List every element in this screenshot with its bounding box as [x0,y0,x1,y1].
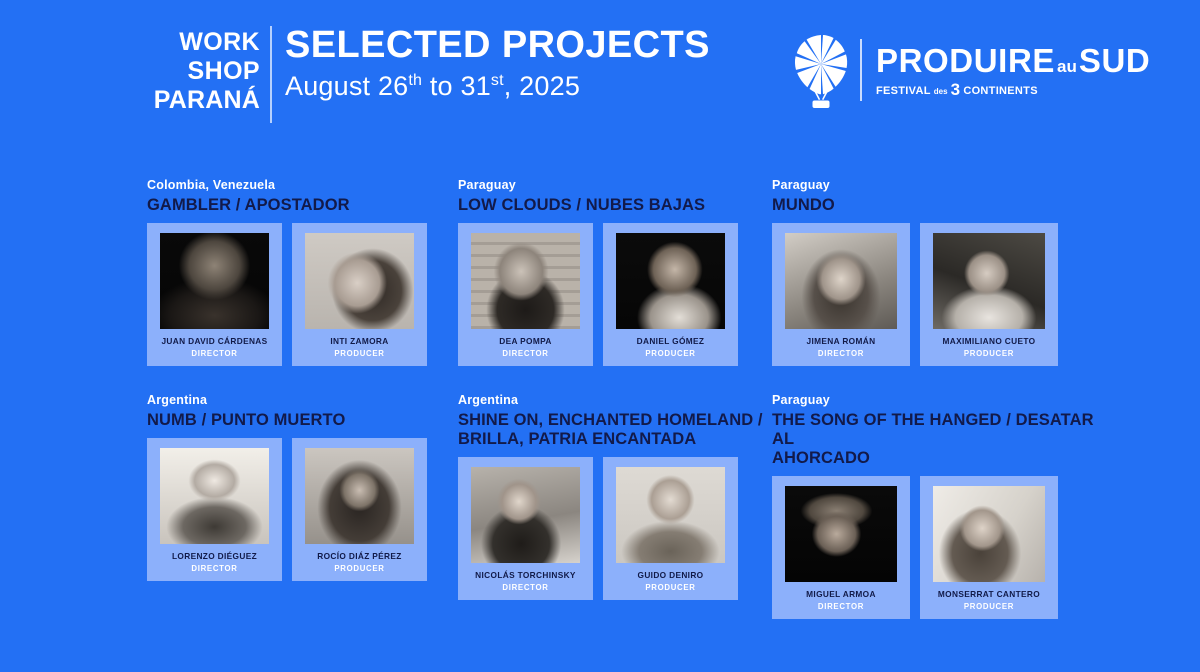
date-middle: to 31 [422,71,491,101]
logo-continents: CONTINENTS [963,85,1038,97]
person-role: DIRECTOR [502,349,548,358]
event-dates: August 26th to 31st, 2025 [285,70,710,102]
person-role: PRODUCER [334,349,384,358]
hot-air-balloon-icon [790,30,852,110]
person-name: GUIDO DENIRO [638,571,704,581]
header-title-group: SELECTED PROJECTS August 26th to 31st, 2… [285,24,710,102]
person-role: DIRECTOR [191,349,237,358]
person-photo [305,448,414,544]
project-title: LOW CLOUDS / NUBES BAJAS [458,196,788,215]
person-photo [933,486,1045,582]
person-role: DIRECTOR [818,349,864,358]
project-country: Paraguay [772,178,1102,194]
person-card-producer[interactable]: GUIDO DENIRO PRODUCER [603,457,738,600]
person-role: DIRECTOR [191,564,237,573]
logo-au: au [1055,57,1079,76]
project-title: GAMBLER / APOSTADOR [147,196,477,215]
project-people: LORENZO DIÉGUEZ DIRECTOR ROCÍO DIÁZ PÉRE… [147,438,477,581]
selected-projects-grid: Colombia, Venezuela GAMBLER / APOSTADOR … [0,178,1200,608]
project-people: MIGUEL ARMOA DIRECTOR MONSERRAT CANTERO … [772,476,1102,619]
date-prefix: August 26 [285,71,408,101]
logo-des: des [934,87,948,96]
person-name: DANIEL GÓMEZ [637,337,705,347]
person-card-producer[interactable]: ROCÍO DIÁZ PÉREZ PRODUCER [292,438,427,581]
project-card-low-clouds-nubes-bajas: Paraguay LOW CLOUDS / NUBES BAJAS DEA PO… [458,178,788,366]
logo-sud: SUD [1079,42,1150,79]
logo-tagline: FESTIVAL des 3 CONTINENTS [876,83,1150,97]
project-people: JUAN DAVID CÁRDENAS DIRECTOR INTI ZAMORA… [147,223,477,366]
person-name: MAXIMILIANO CUETO [943,337,1036,347]
project-country: Paraguay [458,178,788,194]
person-name: JIMENA ROMÁN [807,337,876,347]
date-ordinal-2: st [491,72,504,89]
project-title: NUMB / PUNTO MUERTO [147,411,477,430]
person-photo [305,233,414,329]
logo-number-three: 3 [951,84,961,96]
person-name: LORENZO DIÉGUEZ [172,552,257,562]
logo-brand-name: PRODUIREauSUD [876,44,1150,77]
page-title: SELECTED PROJECTS [285,24,710,67]
person-card-director[interactable]: JIMENA ROMÁN DIRECTOR [772,223,910,366]
projects-row-1: Colombia, Venezuela GAMBLER / APOSTADOR … [0,178,1200,393]
person-card-director[interactable]: MIGUEL ARMOA DIRECTOR [772,476,910,619]
project-card-gambler-apostador: Colombia, Venezuela GAMBLER / APOSTADOR … [147,178,477,366]
person-card-director[interactable]: NICOLÁS TORCHINSKY DIRECTOR [458,457,593,600]
workshop-line-1: WORK [150,28,260,57]
person-role: PRODUCER [334,564,384,573]
project-title: SHINE ON, ENCHANTED HOMELAND / BRILLA, P… [458,411,788,449]
person-photo [471,233,580,329]
person-role: PRODUCER [645,583,695,592]
person-photo [160,233,269,329]
project-country: Argentina [147,393,477,409]
logo-festival: FESTIVAL [876,85,931,97]
person-name: INTI ZAMORA [330,337,388,347]
person-card-producer[interactable]: MONSERRAT CANTERO PRODUCER [920,476,1058,619]
project-card-mundo: Paraguay MUNDO JIMENA ROMÁN DIRECTOR MAX… [772,178,1102,366]
person-name: ROCÍO DIÁZ PÉREZ [317,552,401,562]
person-photo [616,467,725,563]
project-country: Paraguay [772,393,1102,409]
person-name: DEA POMPA [499,337,551,347]
date-ordinal-1: th [408,72,422,89]
person-card-director[interactable]: LORENZO DIÉGUEZ DIRECTOR [147,438,282,581]
project-people: DEA POMPA DIRECTOR DANIEL GÓMEZ PRODUCER [458,223,788,366]
header-divider [270,26,272,123]
person-card-director[interactable]: DEA POMPA DIRECTOR [458,223,593,366]
project-people: NICOLÁS TORCHINSKY DIRECTOR GUIDO DENIRO… [458,457,788,600]
person-card-director[interactable]: JUAN DAVID CÁRDENAS DIRECTOR [147,223,282,366]
workshop-line-2: SHOP [150,57,260,86]
page-header: WORK SHOP PARANÁ SELECTED PROJECTS Augus… [0,0,1200,150]
person-role: PRODUCER [645,349,695,358]
person-photo [471,467,580,563]
person-name: MONSERRAT CANTERO [938,590,1040,600]
person-role: DIRECTOR [502,583,548,592]
person-photo [933,233,1045,329]
person-name: MIGUEL ARMOA [806,590,876,600]
project-card-numb-punto-muerto: Argentina NUMB / PUNTO MUERTO LORENZO DI… [147,393,477,581]
person-photo [785,233,897,329]
project-country: Colombia, Venezuela [147,178,477,194]
person-role: DIRECTOR [818,602,864,611]
project-country: Argentina [458,393,788,409]
project-card-shine-on-enchanted-homeland: Argentina SHINE ON, ENCHANTED HOMELAND /… [458,393,788,600]
person-photo [616,233,725,329]
project-card-the-song-of-the-hanged: Paraguay THE SONG OF THE HANGED / DESATA… [772,393,1102,619]
person-photo [785,486,897,582]
person-role: PRODUCER [964,349,1014,358]
person-name: JUAN DAVID CÁRDENAS [161,337,267,347]
project-title: THE SONG OF THE HANGED / DESATAR AL AHOR… [772,411,1102,468]
person-card-producer[interactable]: MAXIMILIANO CUETO PRODUCER [920,223,1058,366]
logo-wordmark: PRODUIREauSUD FESTIVAL des 3 CONTINENTS [876,44,1150,97]
produire-au-sud-logo: PRODUIREauSUD FESTIVAL des 3 CONTINENTS [790,28,1150,112]
date-suffix: , 2025 [504,71,580,101]
project-people: JIMENA ROMÁN DIRECTOR MAXIMILIANO CUETO … [772,223,1102,366]
project-title: MUNDO [772,196,1102,215]
person-name: NICOLÁS TORCHINSKY [475,571,576,581]
workshop-line-3: PARANÁ [150,86,260,115]
person-role: PRODUCER [964,602,1014,611]
logo-divider [860,39,862,101]
logo-produire: PRODUIRE [876,42,1055,79]
person-card-producer[interactable]: INTI ZAMORA PRODUCER [292,223,427,366]
person-photo [160,448,269,544]
projects-row-2: Argentina NUMB / PUNTO MUERTO LORENZO DI… [0,393,1200,608]
workshop-parana-wordmark: WORK SHOP PARANÁ [150,28,260,115]
person-card-producer[interactable]: DANIEL GÓMEZ PRODUCER [603,223,738,366]
